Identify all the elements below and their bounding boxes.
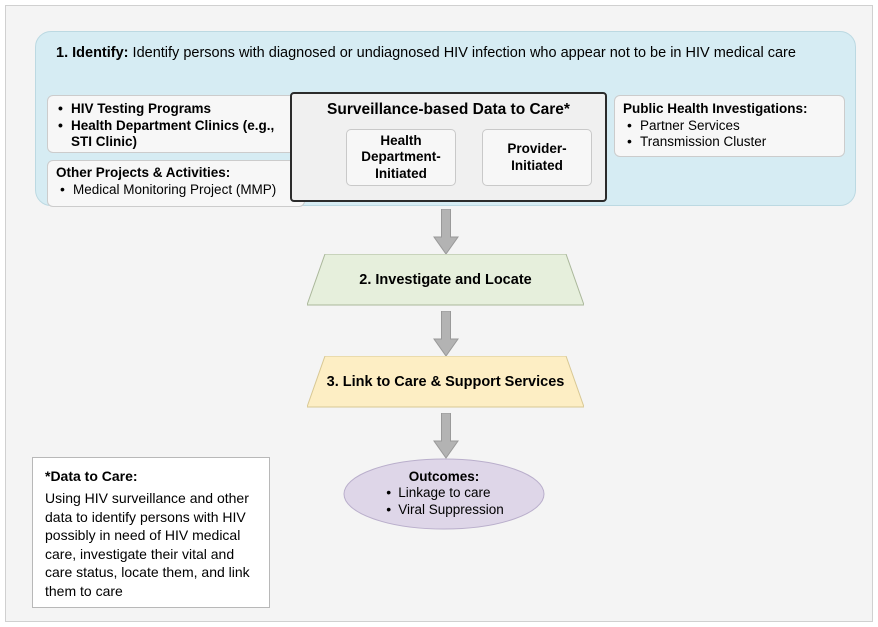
step2-label: 2. Investigate and Locate [359,272,531,288]
arrow-down-icon-3 [433,413,459,459]
outcomes-list: Linkage to care Viral Suppression [384,485,504,519]
hiv-testing-list: HIV Testing Programs Health Department C… [54,101,298,151]
other-projects-list: Medical Monitoring Project (MMP) [56,182,298,199]
step2-investigate-and-locate: 2. Investigate and Locate [307,254,584,306]
step1-number-label: 1. Identify: [56,45,129,61]
step3-label: 3. Link to Care & Support Services [327,374,565,390]
arrow-down-icon-1 [433,209,459,255]
diagram-page: 1. Identify: Identify persons with diagn… [0,0,878,627]
outcomes-title: Outcomes: [343,469,545,484]
footnote-data-to-care: *Data to Care: Using HIV surveillance an… [32,457,270,608]
card-public-health-investigations: Public Health Investigations: Partner Se… [614,95,845,157]
list-item: Linkage to care [398,485,504,502]
outcomes-content: Outcomes: Linkage to care Viral Suppress… [343,469,545,519]
list-item: Health Department Clinics (e.g., STI Cli… [71,118,298,151]
surveillance-sub-health-department-initiated: Health Department-Initiated [346,129,456,186]
step1-header-text: Identify persons with diagnosed or undia… [133,45,796,61]
step1-identify-panel: 1. Identify: Identify persons with diagn… [35,31,856,206]
surveillance-sub-provider-initiated: Provider-Initiated [482,129,592,186]
list-item: Partner Services [640,118,838,135]
step1-header: 1. Identify: Identify persons with diagn… [56,44,841,62]
list-item: HIV Testing Programs [71,101,298,118]
surveillance-data-to-care-box: Surveillance-based Data to Care* Health … [290,92,607,202]
list-item: Medical Monitoring Project (MMP) [73,182,298,199]
card-other-projects: Other Projects & Activities: Medical Mon… [47,160,305,207]
public-health-list: Partner Services Transmission Cluster [623,118,838,151]
step3-link-to-care: 3. Link to Care & Support Services [307,356,584,408]
card-hiv-testing-programs: HIV Testing Programs Health Department C… [47,95,305,153]
public-health-title: Public Health Investigations: [623,101,838,118]
footnote-body: Using HIV surveillance and other data to… [45,489,258,601]
surveillance-box-title: Surveillance-based Data to Care* [292,101,605,119]
footnote-title: *Data to Care: [45,468,258,484]
arrow-down-icon-2 [433,311,459,357]
diagram-canvas: 1. Identify: Identify persons with diagn… [5,5,873,622]
other-projects-title: Other Projects & Activities: [56,165,298,182]
list-item: Viral Suppression [398,502,504,519]
list-item: Transmission Cluster [640,134,838,151]
outcomes-ellipse: Outcomes: Linkage to care Viral Suppress… [343,458,545,530]
